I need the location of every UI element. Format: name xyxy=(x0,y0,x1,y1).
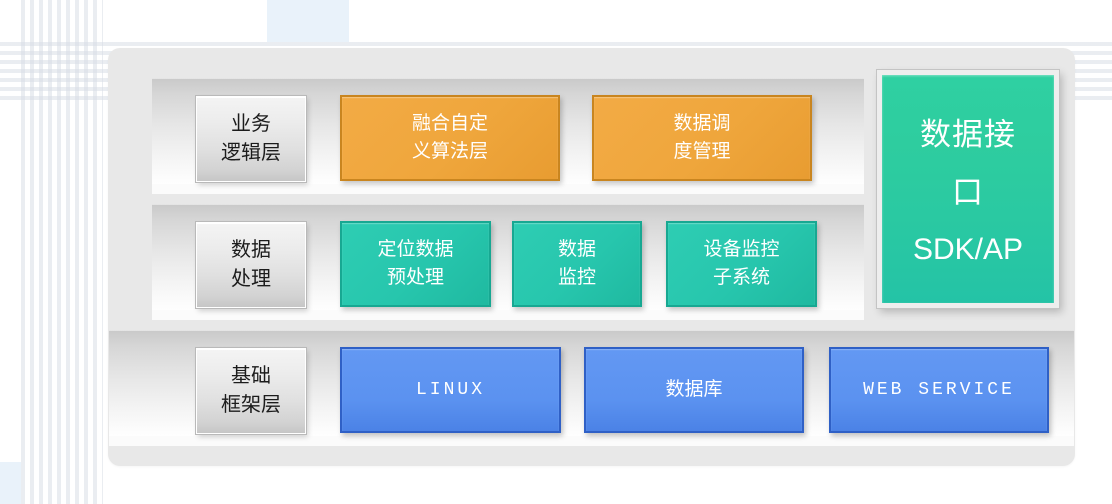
data-interface-panel[interactable]: 数据接 口 SDK/AP xyxy=(877,70,1059,308)
tier-label-business-line1: 业务 xyxy=(231,110,271,139)
module-web-service-label: WEB SERVICE xyxy=(863,377,1015,404)
module-fusion-algorithm-layer-line1: 融合自定 xyxy=(412,110,488,139)
tier-label-business[interactable]: 业务 逻辑层 xyxy=(196,96,306,182)
data-interface-panel-sdk-label: SDK/AP xyxy=(913,227,1023,272)
grid-highlight-cell-bottom xyxy=(0,462,21,504)
module-linux[interactable]: LINUX xyxy=(340,347,561,433)
module-web-service[interactable]: WEB SERVICE xyxy=(829,347,1049,433)
module-fusion-algorithm-layer-line2: 义算法层 xyxy=(412,138,488,167)
module-fusion-algorithm-layer[interactable]: 融合自定 义算法层 xyxy=(340,95,560,181)
tier-row-business: 业务 逻辑层 融合自定 义算法层 数据调 度管理 xyxy=(152,78,864,194)
architecture-diagram: 业务 逻辑层 融合自定 义算法层 数据调 度管理 数据 处理 定位数据 预处理 … xyxy=(108,48,1075,466)
module-data-scheduling-management-line1: 数据调 xyxy=(673,110,730,139)
module-data-monitoring-line2: 监控 xyxy=(558,264,596,293)
grid-highlight-cell-top xyxy=(267,0,349,42)
data-interface-panel-line1: 数据接 xyxy=(920,106,1016,163)
tier-label-business-line2: 逻辑层 xyxy=(221,139,281,168)
module-data-monitoring-line1: 数据 xyxy=(558,236,596,265)
tier-label-data-processing-line1: 数据 xyxy=(231,236,271,265)
module-positioning-data-preprocessing-line1: 定位数据 xyxy=(377,236,453,265)
tier-label-platform-framework-line2: 框架层 xyxy=(221,391,281,420)
data-interface-panel-line2: 口 xyxy=(952,164,984,221)
module-database-label: 数据库 xyxy=(665,376,722,405)
module-database[interactable]: 数据库 xyxy=(584,347,804,433)
module-device-monitoring-subsystem[interactable]: 设备监控 子系统 xyxy=(666,221,817,307)
module-linux-label: LINUX xyxy=(416,377,485,404)
tier-label-platform-framework[interactable]: 基础 框架层 xyxy=(196,348,306,434)
tier-label-platform-framework-line1: 基础 xyxy=(231,362,271,391)
module-positioning-data-preprocessing-line2: 预处理 xyxy=(387,264,444,293)
module-device-monitoring-subsystem-line1: 设备监控 xyxy=(703,236,779,265)
tier-label-data-processing[interactable]: 数据 处理 xyxy=(196,222,306,308)
tier-row-platform-framework: 基础 框架层 LINUX 数据库 WEB SERVICE xyxy=(109,330,1074,446)
tier-row-data-processing: 数据 处理 定位数据 预处理 数据 监控 设备监控 子系统 xyxy=(152,204,864,320)
module-device-monitoring-subsystem-line2: 子系统 xyxy=(713,264,770,293)
module-data-monitoring[interactable]: 数据 监控 xyxy=(512,221,642,307)
module-data-scheduling-management-line2: 度管理 xyxy=(673,138,730,167)
module-data-scheduling-management[interactable]: 数据调 度管理 xyxy=(592,95,812,181)
tier-label-data-processing-line2: 处理 xyxy=(231,265,271,294)
module-positioning-data-preprocessing[interactable]: 定位数据 预处理 xyxy=(340,221,491,307)
